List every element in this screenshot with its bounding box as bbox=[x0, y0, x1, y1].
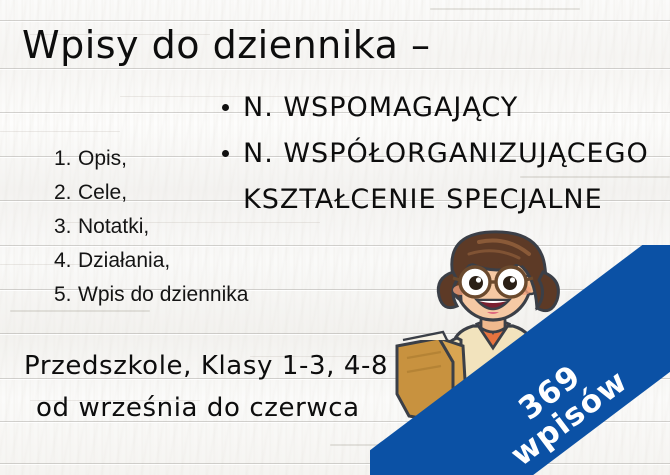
list-item-label: Działania, bbox=[78, 244, 170, 278]
footer-line-grades: Przedszkole, Klasy 1-3, 4-8 bbox=[24, 345, 388, 387]
list-item: 1. Opis, bbox=[54, 142, 324, 176]
list-item-label: Opis, bbox=[78, 142, 127, 176]
plank-divider bbox=[0, 20, 670, 21]
numbered-list: 1. Opis, 2. Cele, 3. Notatki, 4. Działan… bbox=[54, 142, 324, 312]
poster-canvas: Wpisy do dziennika – N. WSPOMAGAJĄCY N. … bbox=[0, 0, 670, 475]
wood-grain bbox=[430, 8, 580, 10]
list-item-number: 2. bbox=[54, 176, 78, 210]
list-item-number: 4. bbox=[54, 244, 78, 278]
list-item-number: 3. bbox=[54, 210, 78, 244]
plank-divider bbox=[0, 68, 670, 69]
footer-text-block: Przedszkole, Klasy 1-3, 4-8 od września … bbox=[24, 345, 388, 429]
footer-line-period: od września do czerwca bbox=[24, 387, 388, 429]
list-item-number: 5. bbox=[54, 278, 78, 312]
page-title: Wpisy do dziennika – bbox=[22, 22, 431, 68]
list-item-label: Notatki, bbox=[78, 210, 149, 244]
list-item: 4. Działania, bbox=[54, 244, 324, 278]
list-item-label: Wpis do dziennika bbox=[78, 278, 248, 312]
list-item: N. WSPOMAGAJĄCY bbox=[222, 88, 662, 128]
list-item-number: 1. bbox=[54, 142, 78, 176]
list-item: 2. Cele, bbox=[54, 176, 324, 210]
list-item: 5. Wpis do dziennika bbox=[54, 278, 324, 312]
list-item-label: Cele, bbox=[78, 176, 127, 210]
list-item: 3. Notatki, bbox=[54, 210, 324, 244]
wood-grain bbox=[0, 131, 120, 132]
bullet-label: N. WSPOMAGAJĄCY bbox=[243, 88, 518, 128]
bullet-dot-icon bbox=[222, 104, 229, 111]
teacher-illustration bbox=[395, 228, 590, 475]
